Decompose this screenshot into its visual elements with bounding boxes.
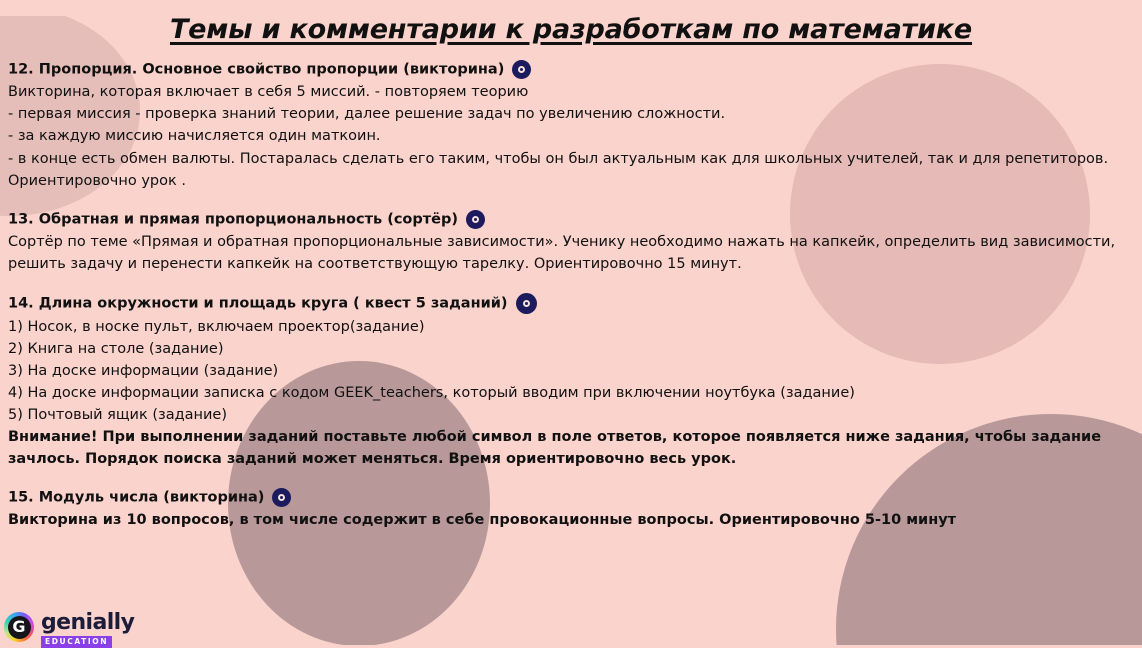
section-line: Викторина из 10 вопросов, в том числе со…: [8, 509, 1134, 531]
eye-view-icon[interactable]: [512, 60, 531, 79]
page-title: Темы и комментарии к разработкам по мате…: [0, 16, 1142, 44]
section-line: Сортёр по теме «Прямая и обратная пропор…: [8, 231, 1134, 275]
section-line: - за каждую миссию начисляется один матк…: [8, 125, 1134, 147]
genially-glyph: G: [8, 616, 31, 639]
section: 13. Обратная и прямая пропорциональность…: [8, 210, 1134, 275]
section-heading: 13. Обратная и прямая пропорциональность…: [8, 210, 1134, 231]
section-heading-text: 12. Пропорция. Основное свойство пропорц…: [8, 62, 504, 78]
section-line: 5) Почтовый ящик (задание): [8, 404, 1134, 426]
section: 12. Пропорция. Основное свойство пропорц…: [8, 60, 1134, 191]
genially-mark-icon: G: [4, 612, 34, 642]
section-heading-text: 14. Длина окружности и площадь круга ( к…: [8, 295, 508, 311]
section-line: 4) На доске информации записка с кодом G…: [8, 382, 1134, 404]
section-line: Внимание! При выполнении заданий поставь…: [8, 426, 1134, 470]
section-line: - первая миссия - проверка знаний теории…: [8, 103, 1134, 125]
section-line: 3) На доске информации (задание): [8, 360, 1134, 382]
section: 14. Длина окружности и площадь круга ( к…: [8, 293, 1134, 470]
section-heading-text: 13. Обратная и прямая пропорциональность…: [8, 211, 458, 227]
eye-view-icon[interactable]: [272, 488, 291, 507]
section-heading: 15. Модуль числа (викторина): [8, 488, 1134, 509]
slide-content: Темы и комментарии к разработкам по мате…: [0, 16, 1142, 531]
eye-view-icon[interactable]: [516, 293, 537, 314]
section-line: Викторина, которая включает в себя 5 мис…: [8, 81, 1134, 103]
genially-wordmark: genially EDUCATION: [41, 612, 134, 648]
genially-word: genially: [41, 612, 134, 634]
genially-badge: EDUCATION: [41, 636, 112, 648]
section-line: 1) Носок, в носке пульт, включаем проект…: [8, 316, 1134, 338]
section: 15. Модуль числа (викторина)Викторина из…: [8, 488, 1134, 531]
genially-logo[interactable]: G genially EDUCATION: [4, 612, 134, 648]
section-heading: 14. Длина окружности и площадь круга ( к…: [8, 293, 1134, 316]
section-heading: 12. Пропорция. Основное свойство пропорц…: [8, 60, 1134, 81]
section-line: 2) Книга на столе (задание): [8, 338, 1134, 360]
section-list: 12. Пропорция. Основное свойство пропорц…: [0, 60, 1142, 531]
section-heading-text: 15. Модуль числа (викторина): [8, 490, 264, 506]
section-line: - в конце есть обмен валюты. Постаралась…: [8, 148, 1134, 192]
eye-view-icon[interactable]: [466, 210, 485, 229]
